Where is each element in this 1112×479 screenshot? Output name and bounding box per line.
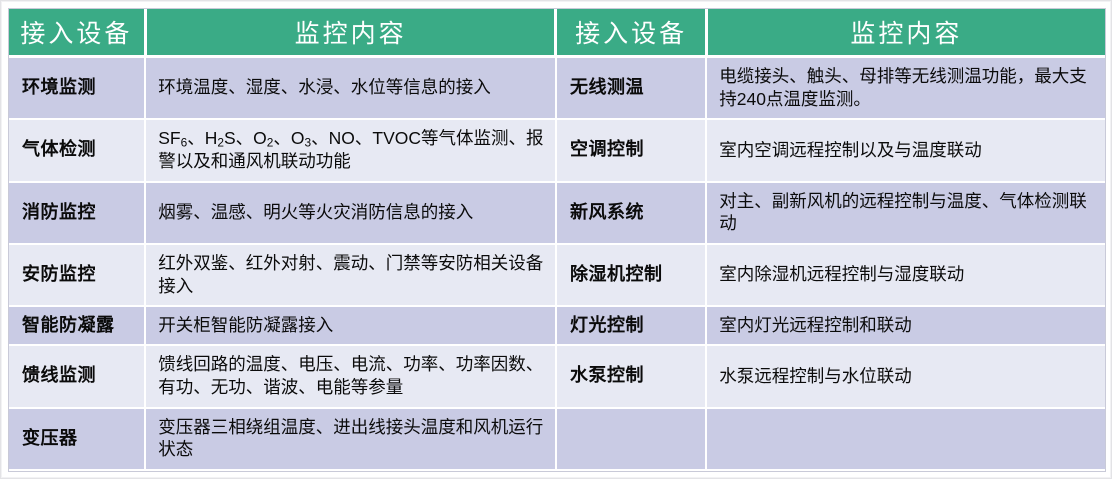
- header-device-left: 接入设备: [9, 9, 145, 57]
- header-device-right: 接入设备: [556, 9, 706, 57]
- device-name-cell: 灯光控制: [556, 306, 706, 345]
- table-row: 智能防凝露开关柜智能防凝露接入灯光控制室内灯光远程控制和联动: [9, 306, 1105, 345]
- device-name-cell: 气体检测: [9, 119, 145, 181]
- device-name-cell: 空调控制: [556, 119, 706, 181]
- device-name-cell: 无线测温: [556, 57, 706, 120]
- header-content-left: 监控内容: [145, 9, 556, 57]
- device-name-cell: 水泵控制: [556, 345, 706, 407]
- device-name-cell: 除湿机控制: [556, 244, 706, 306]
- table-row: 馈线监测馈线回路的温度、电压、电流、功率、功率因数、有功、无功、谐波、电能等参量…: [9, 345, 1105, 407]
- table-row: 消防监控烟雾、温感、明火等火灾消防信息的接入新风系统对主、副新风机的远程控制与温…: [9, 182, 1105, 244]
- device-name-cell: 消防监控: [9, 182, 145, 244]
- device-name-cell: 新风系统: [556, 182, 706, 244]
- monitoring-content-cell: 环境温度、湿度、水浸、水位等信息的接入: [145, 57, 556, 120]
- table-row: 气体检测SF6、H2S、O2、O3、NO、TVOC等气体监测、报警以及和通风机联…: [9, 119, 1105, 181]
- device-name-cell: 变压器: [9, 408, 145, 470]
- monitoring-content-cell: 馈线回路的温度、电压、电流、功率、功率因数、有功、无功、谐波、电能等参量: [145, 345, 556, 407]
- monitoring-content-cell: 水泵远程控制与水位联动: [706, 345, 1105, 407]
- header-row: 接入设备 监控内容 接入设备 监控内容: [9, 9, 1105, 57]
- table-container: 接入设备 监控内容 接入设备 监控内容 环境监测环境温度、湿度、水浸、水位等信息…: [8, 8, 1106, 472]
- table-header: 接入设备 监控内容 接入设备 监控内容: [9, 9, 1105, 57]
- monitoring-devices-table: 接入设备 监控内容 接入设备 监控内容 环境监测环境温度、湿度、水浸、水位等信息…: [9, 9, 1105, 471]
- device-name-cell: 安防监控: [9, 244, 145, 306]
- monitoring-content-cell: 红外双鉴、红外对射、震动、门禁等安防相关设备接入: [145, 244, 556, 306]
- device-name-cell: [556, 408, 706, 470]
- table-row: 安防监控红外双鉴、红外对射、震动、门禁等安防相关设备接入除湿机控制室内除湿机远程…: [9, 244, 1105, 306]
- monitoring-content-cell: 室内除湿机远程控制与湿度联动: [706, 244, 1105, 306]
- monitoring-content-cell: 电缆接头、触头、母排等无线测温功能，最大支持240点温度监测。: [706, 57, 1105, 120]
- table-row: 环境监测环境温度、湿度、水浸、水位等信息的接入无线测温电缆接头、触头、母排等无线…: [9, 57, 1105, 120]
- monitoring-content-cell: 变压器三相绕组温度、进出线接头温度和风机运行状态: [145, 408, 556, 470]
- device-name-cell: 馈线监测: [9, 345, 145, 407]
- device-name-cell: 智能防凝露: [9, 306, 145, 345]
- monitoring-content-cell: 室内空调远程控制以及与温度联动: [706, 119, 1105, 181]
- table-frame: 接入设备 监控内容 接入设备 监控内容 环境监测环境温度、湿度、水浸、水位等信息…: [0, 0, 1112, 479]
- device-name-cell: 环境监测: [9, 57, 145, 120]
- table-body: 环境监测环境温度、湿度、水浸、水位等信息的接入无线测温电缆接头、触头、母排等无线…: [9, 57, 1105, 471]
- table-row: 变压器变压器三相绕组温度、进出线接头温度和风机运行状态: [9, 408, 1105, 470]
- monitoring-content-cell: 烟雾、温感、明火等火灾消防信息的接入: [145, 182, 556, 244]
- monitoring-content-cell: 开关柜智能防凝露接入: [145, 306, 556, 345]
- header-content-right: 监控内容: [706, 9, 1105, 57]
- monitoring-content-cell: 室内灯光远程控制和联动: [706, 306, 1105, 345]
- monitoring-content-cell: SF6、H2S、O2、O3、NO、TVOC等气体监测、报警以及和通风机联动功能: [145, 119, 556, 181]
- monitoring-content-cell: [706, 408, 1105, 470]
- monitoring-content-cell: 对主、副新风机的远程控制与温度、气体检测联动: [706, 182, 1105, 244]
